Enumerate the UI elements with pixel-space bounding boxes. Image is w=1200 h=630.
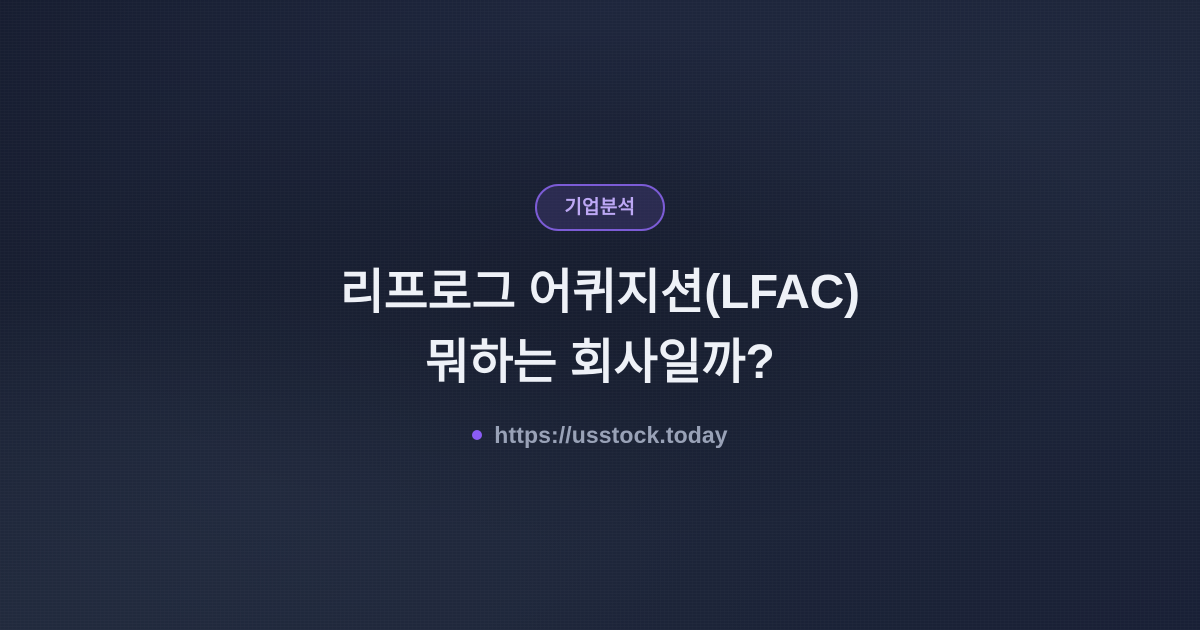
page-title: 리프로그 어퀴지션(LFAC) 뭐하는 회사일까? — [340, 258, 859, 398]
bullet-dot-icon — [472, 430, 482, 440]
site-url-text: https://usstock.today — [494, 424, 727, 447]
card-content: 기업분석 리프로그 어퀴지션(LFAC) 뭐하는 회사일까? https://u… — [0, 0, 1200, 630]
og-share-card: 기업분석 리프로그 어퀴지션(LFAC) 뭐하는 회사일까? https://u… — [0, 0, 1200, 630]
page-title-line-1: 리프로그 어퀴지션(LFAC) — [340, 258, 859, 328]
category-badge: 기업분석 — [535, 184, 666, 231]
page-title-line-2: 뭐하는 회사일까? — [340, 328, 859, 398]
site-url[interactable]: https://usstock.today — [472, 424, 727, 447]
